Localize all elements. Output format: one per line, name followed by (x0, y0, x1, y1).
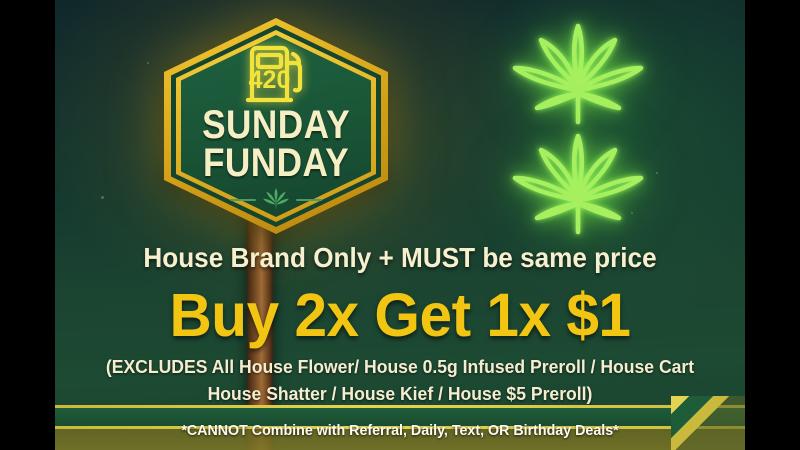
promo-copy: House Brand Only + MUST be same price Bu… (55, 0, 745, 450)
disclaimer-banner: *CANNOT Combine with Referral, Daily, Te… (55, 396, 745, 450)
promo-image: 420 SUNDAY FUNDAY (0, 0, 800, 450)
disclaimer-text: *CANNOT Combine with Referral, Daily, Te… (72, 422, 728, 439)
artwork-area: 420 SUNDAY FUNDAY (55, 0, 745, 450)
banner-stripe-top (55, 405, 745, 408)
promo-headline: Buy 2x Get 1x $1 (69, 280, 731, 350)
exclusions-line-1: (EXCLUDES All House Flower/ House 0.5g I… (72, 356, 728, 378)
promo-subheading: House Brand Only + MUST be same price (72, 242, 728, 274)
